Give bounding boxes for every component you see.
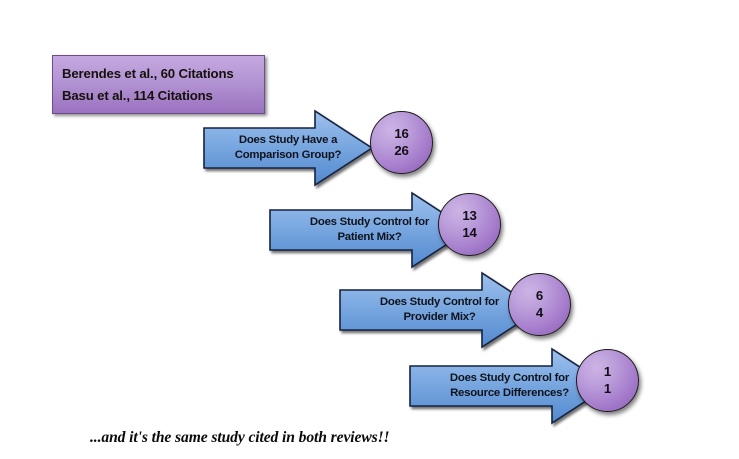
- footer-caption: ...and it's the same study cited in both…: [90, 429, 390, 447]
- result-circle-4-bottom: 1: [604, 381, 611, 398]
- citation-line-basu: Basu et al., 114 Citations: [62, 89, 264, 102]
- diagram-canvas: Berendes et al., 60 Citations Basu et al…: [0, 0, 739, 459]
- result-circle-3-bottom: 4: [536, 305, 543, 322]
- citation-box: Berendes et al., 60 Citations Basu et al…: [52, 55, 265, 114]
- result-circle-2-bottom: 14: [462, 225, 476, 242]
- result-circle-4-top: 1: [604, 364, 611, 381]
- result-circle-1[interactable]: 16 26: [370, 111, 433, 174]
- result-circle-3[interactable]: 6 4: [508, 273, 571, 336]
- result-circle-2[interactable]: 13 14: [438, 193, 501, 256]
- arrow-shape-1: [202, 110, 374, 186]
- step-arrow-1[interactable]: Does Study Have a Comparison Group?: [202, 110, 374, 186]
- citation-line-berendes: Berendes et al., 60 Citations: [62, 67, 264, 80]
- result-circle-1-top: 16: [394, 126, 408, 143]
- result-circle-3-top: 6: [536, 288, 543, 305]
- result-circle-4[interactable]: 1 1: [576, 349, 639, 412]
- result-circle-1-bottom: 26: [394, 143, 408, 160]
- result-circle-2-top: 13: [462, 208, 476, 225]
